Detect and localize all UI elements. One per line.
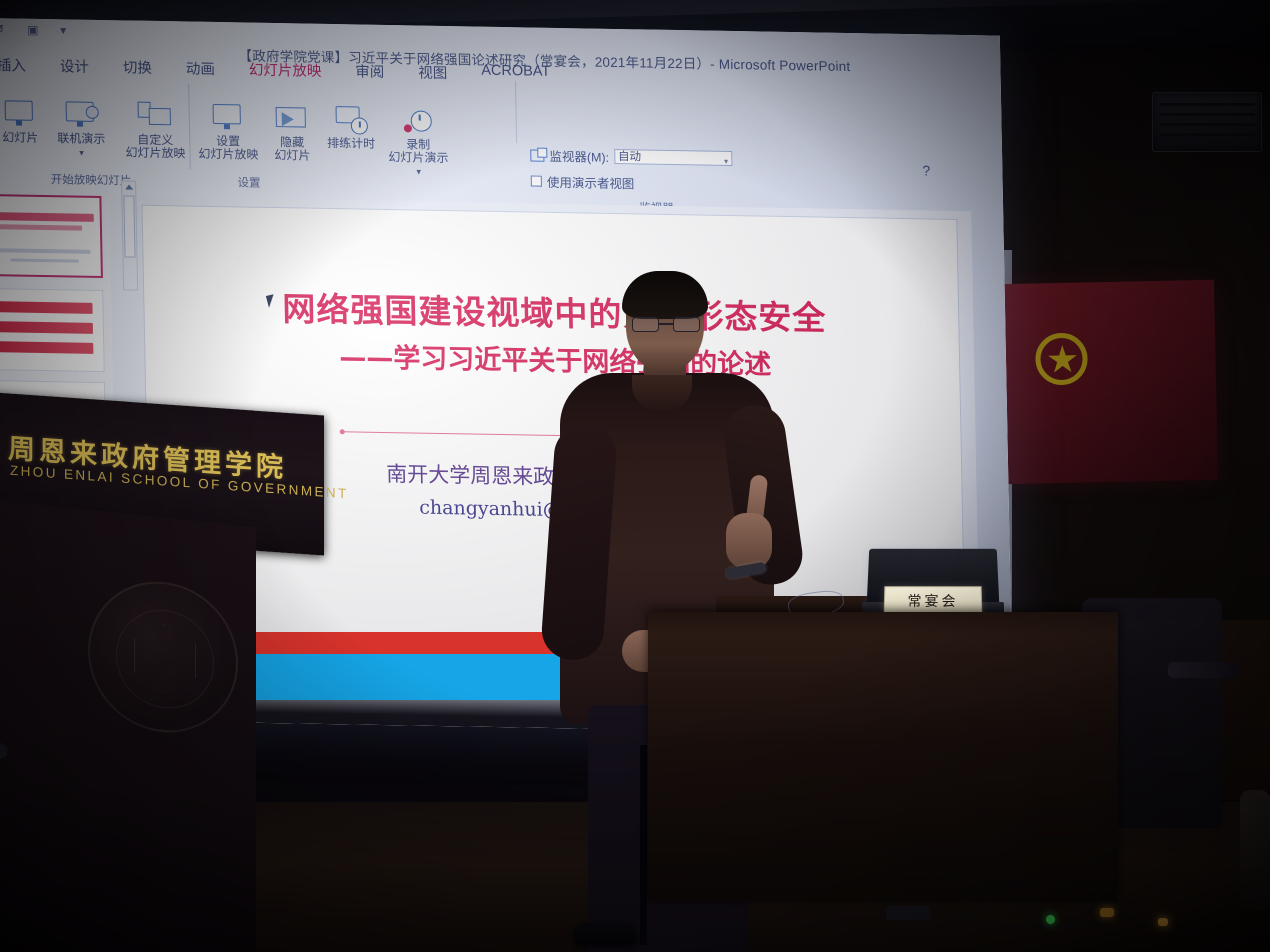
thumbnail-bullet-bar <box>0 321 93 334</box>
presenter-leg-gap <box>640 745 647 945</box>
chevron-down-icon[interactable]: ▾ <box>79 148 84 158</box>
thumbnail-slide-1[interactable] <box>0 194 103 278</box>
checkbox-icon[interactable] <box>531 176 542 187</box>
record-slideshow-button[interactable]: 录制 幻灯片演示 ▾ <box>379 105 456 179</box>
from-beginning-icon <box>2 98 39 129</box>
thumbnail-subtitle-bar <box>0 224 82 230</box>
presenter-shoe <box>574 923 636 945</box>
green-led-indicator <box>1046 915 1055 924</box>
podium-front-panel <box>0 500 256 952</box>
hide-slide-icon <box>273 103 310 134</box>
present-online-icon <box>63 99 100 130</box>
scroll-up-arrow-icon[interactable] <box>125 184 133 189</box>
thumbnail-slide-2[interactable] <box>0 288 105 372</box>
thumbnail-scrollbar[interactable] <box>121 180 138 290</box>
ribbon-group-setup: 设置 幻灯片放映 隐藏 幻灯片 <box>189 80 427 196</box>
slideshow-from-start-icon[interactable]: ▣ <box>27 23 44 38</box>
rehearse-timings-button[interactable]: 排练计时 <box>321 104 380 151</box>
customize-qat-icon[interactable]: ▾ <box>60 23 77 38</box>
monitor-row[interactable]: 监视器(M): 自动 ▾ <box>530 145 740 168</box>
checkbox-presenter-view[interactable]: 使用演示者视图 <box>531 172 741 195</box>
power-adapter <box>886 906 930 920</box>
air-vent-icon <box>1152 92 1262 152</box>
setup-show-button[interactable]: 设置 幻灯片放映 <box>191 102 264 162</box>
monitor-label: 监视器(M): <box>549 146 609 166</box>
presenter-right-hand <box>726 513 772 569</box>
hide-slide-button[interactable]: 隐藏 幻灯片 <box>263 103 320 163</box>
audience-member <box>1240 790 1270 910</box>
chair-armrest <box>1168 662 1240 678</box>
custom-slideshow-button[interactable]: 自定义 幻灯片放映 <box>116 100 195 160</box>
amber-led-indicator <box>1100 908 1114 917</box>
monitor-settings[interactable]: 监视器(M): 自动 ▾ 使用演示者视图 监视器 <box>530 145 741 201</box>
present-online-button[interactable]: 联机演示 ▾ <box>48 99 115 160</box>
ribbon: 幻灯片 联机演示 ▾ 自定义 <box>0 76 965 205</box>
chevron-down-icon[interactable]: ▾ <box>724 155 728 169</box>
communist-youth-league-flag <box>1000 280 1218 484</box>
thumbnail-line <box>0 248 90 254</box>
monitor-icon <box>530 149 544 161</box>
emblem-shield-icon <box>134 621 196 694</box>
scrollbar-thumb[interactable] <box>123 195 135 257</box>
cable-loop <box>1010 838 1100 928</box>
glasses-icon <box>632 317 700 332</box>
custom-slideshow-icon <box>137 101 174 132</box>
record-slideshow-icon <box>399 105 436 136</box>
presenter-hair <box>622 271 708 319</box>
ribbon-divider <box>515 81 517 143</box>
amber-led-indicator <box>1158 918 1168 926</box>
lectern-podium: 周恩来政府管理学院 ZHOU ENLAI SCHOOL OF GOVERNMEN… <box>0 392 324 952</box>
thumbnail-bullet-bar <box>0 341 93 354</box>
ribbon-group-monitor: 监视器(M): 自动 ▾ 使用演示者视图 监视器 <box>529 85 761 201</box>
thumbnail-bullet-bar <box>0 301 93 314</box>
chevron-down-icon[interactable]: ▾ <box>416 167 421 177</box>
undo-icon[interactable]: ↺ <box>0 22 11 37</box>
lecture-hall-photo: ↺ ▣ ▾ 【政府学院党课】习近平关于网络强国论述研究（常宴会，2021年11月… <box>0 0 1270 952</box>
rehearse-timings-icon <box>332 104 369 135</box>
quick-access-toolbar[interactable]: ↺ ▣ ▾ <box>0 22 77 38</box>
microphone-icon <box>0 744 22 784</box>
monitor-select[interactable]: 自动 ▾ <box>614 149 732 166</box>
thumbnail-line <box>11 258 79 262</box>
from-beginning-button[interactable]: 幻灯片 <box>0 98 48 145</box>
thumbnail-title-bar <box>0 212 94 222</box>
setup-show-icon <box>209 102 246 133</box>
